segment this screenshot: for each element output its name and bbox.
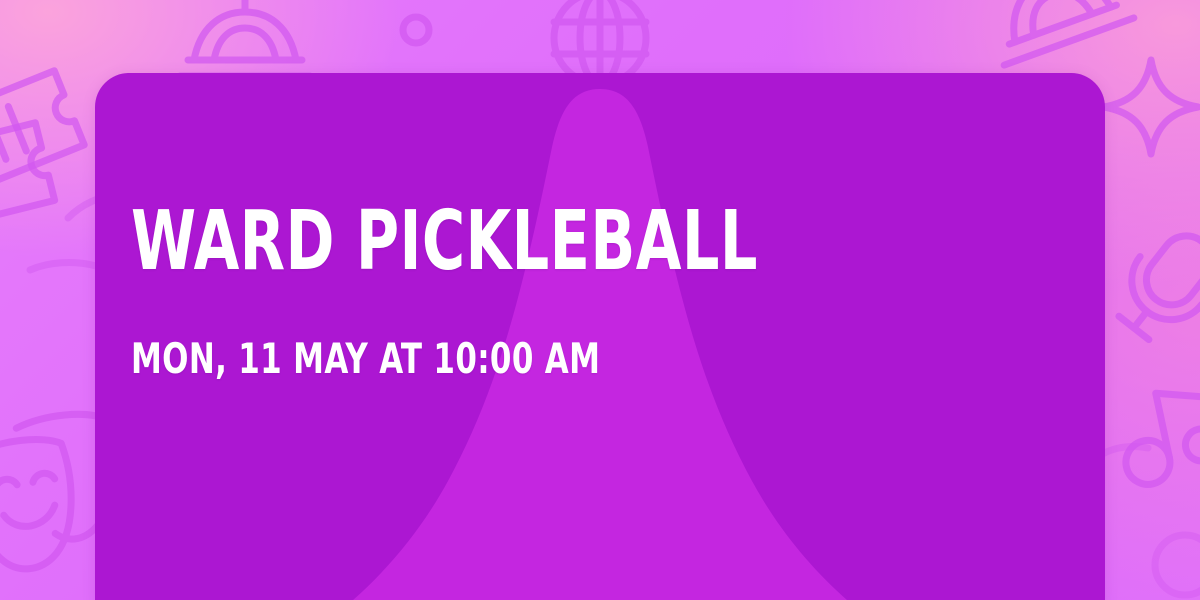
circle-dot-icon [1140, 520, 1200, 600]
event-title: WARD PICKLEBALL [131, 201, 758, 283]
confetti-streak-icon [24, 250, 104, 290]
event-card: WARD PICKLEBALL MON, 11 MAY AT 10:00 AM [95, 73, 1105, 600]
music-note-icon [1095, 361, 1200, 503]
circle-dot-icon [396, 10, 436, 50]
sparkle-star-icon [1096, 52, 1200, 162]
event-datetime: MON, 11 MAY AT 10:00 AM [131, 338, 600, 380]
event-banner: WARD PICKLEBALL MON, 11 MAY AT 10:00 AM [0, 0, 1200, 600]
